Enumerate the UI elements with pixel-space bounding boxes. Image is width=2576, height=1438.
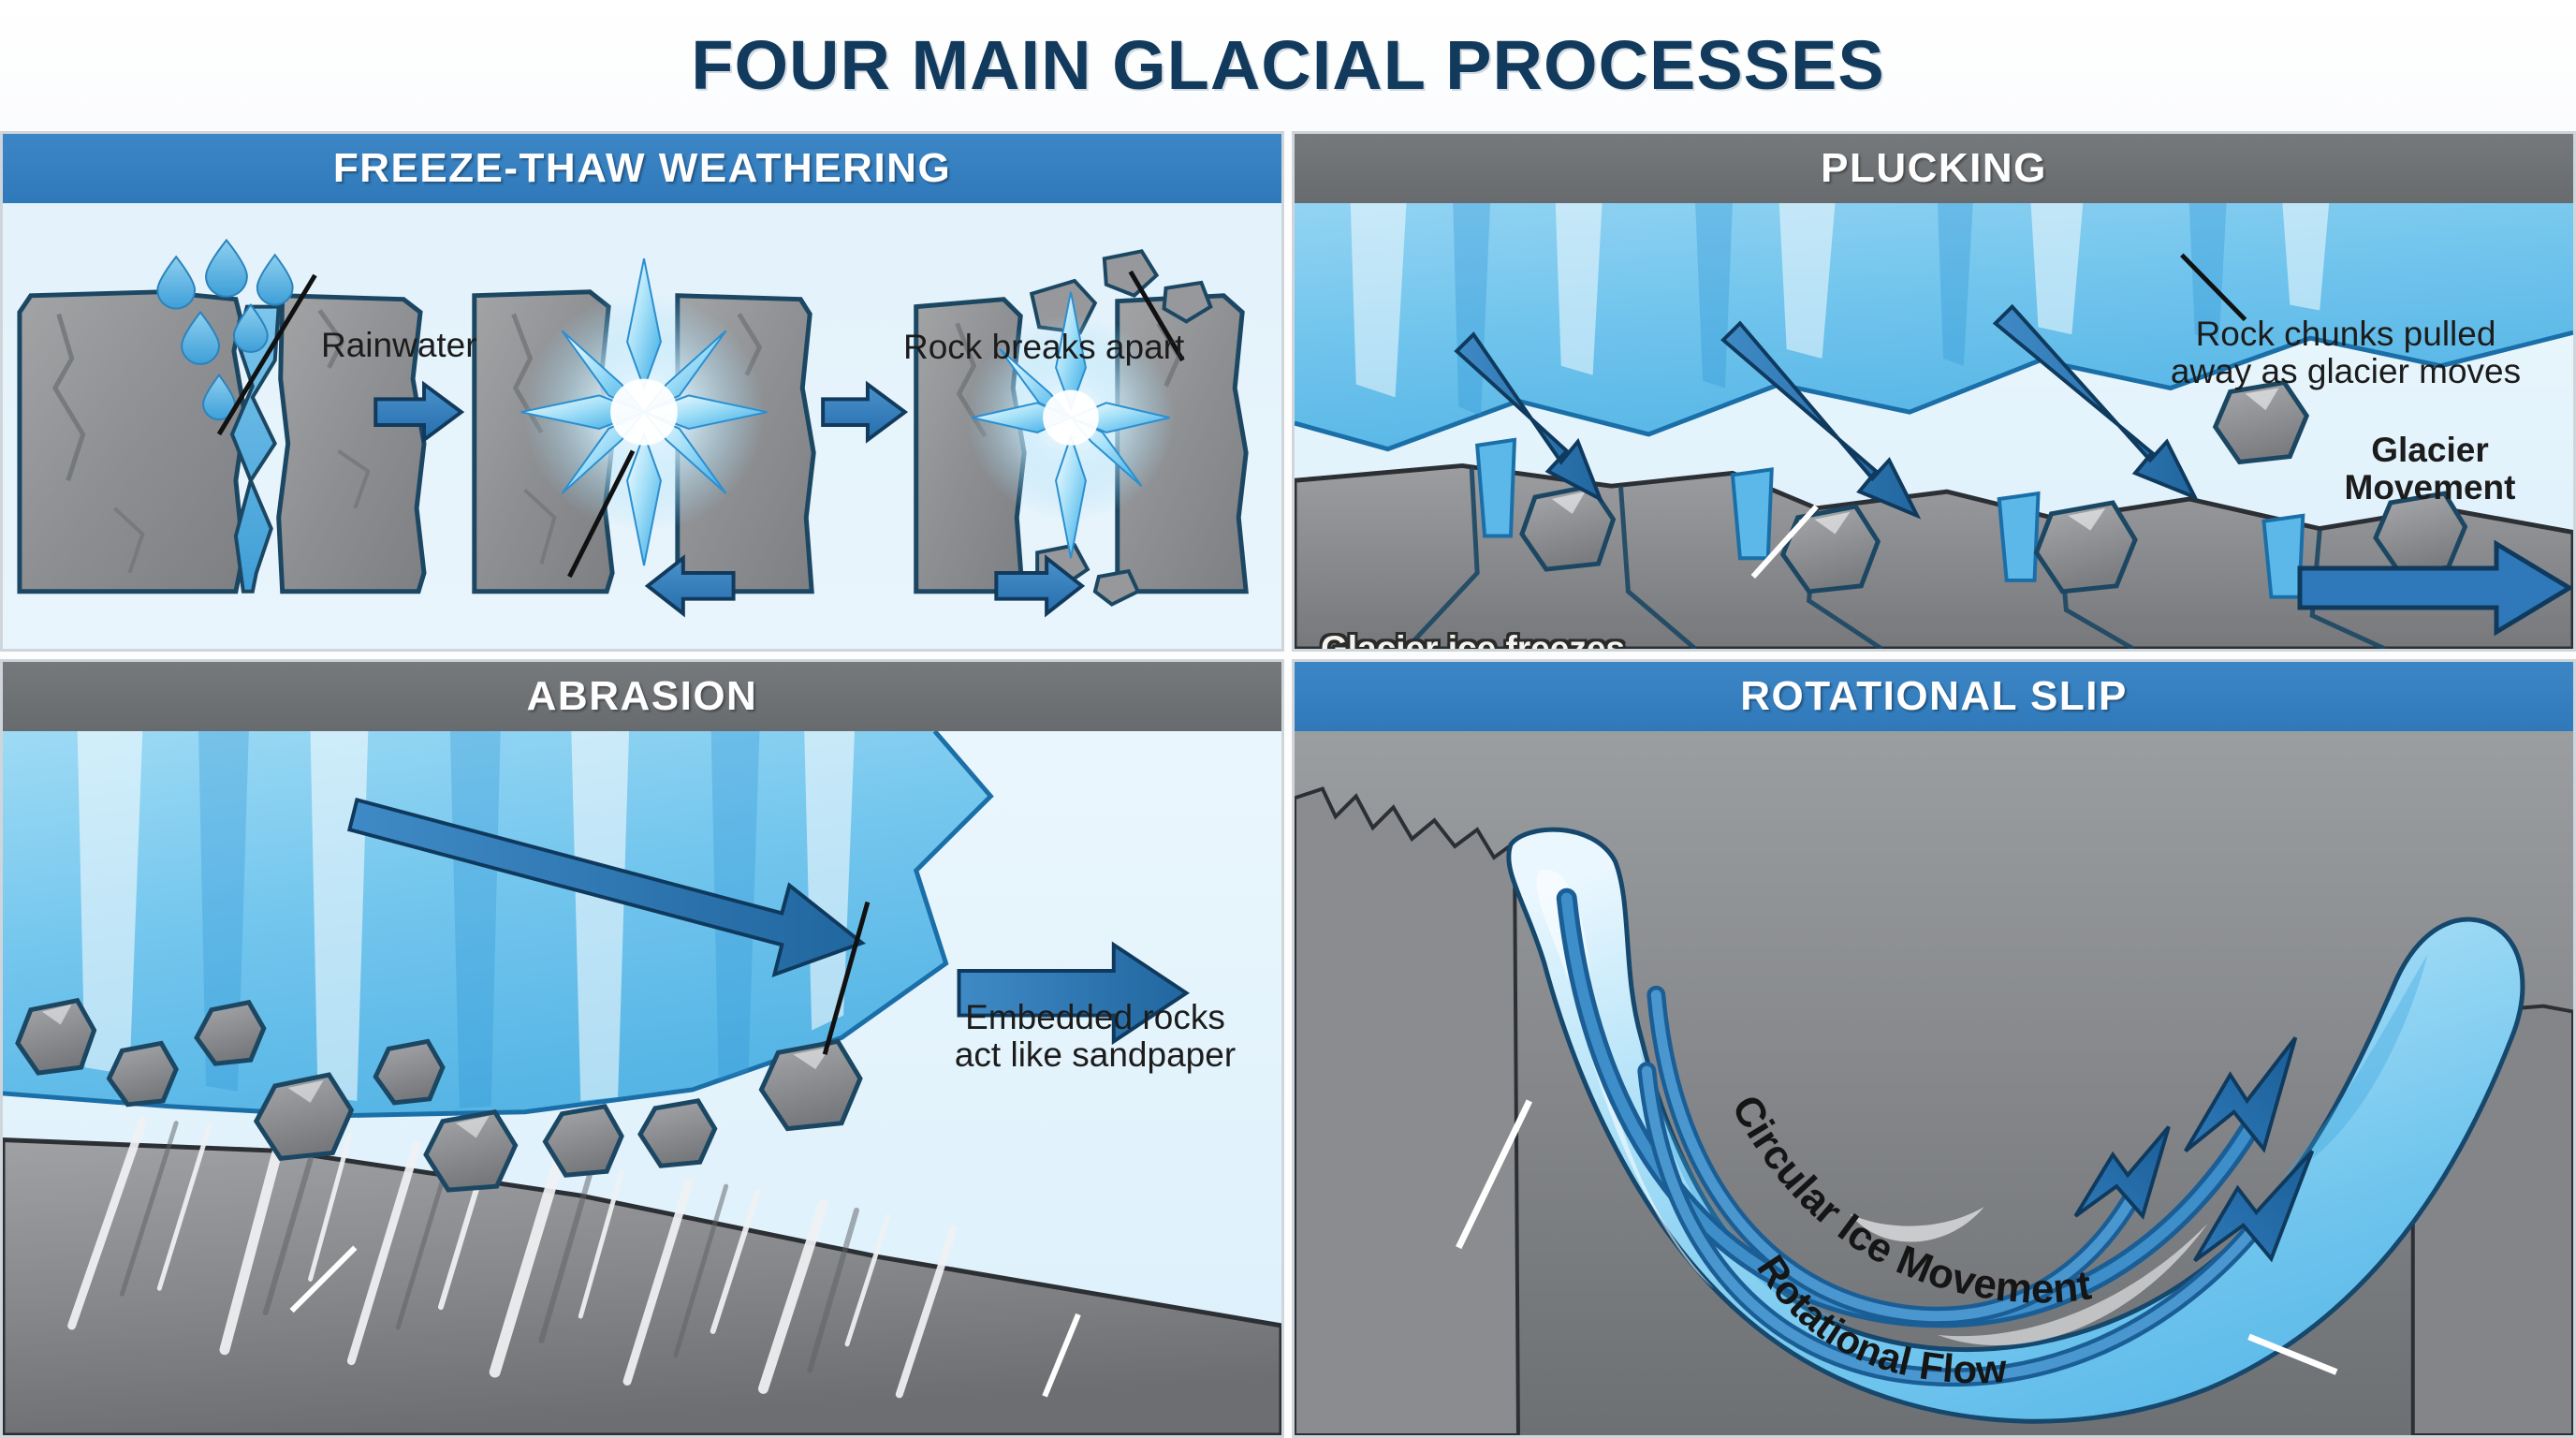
panel-title-abrasion: ABRASION: [527, 673, 758, 720]
arrow-right-icon-glacier-movement: [2294, 536, 2575, 639]
freeze-thaw-illustration: [3, 203, 1281, 649]
panel-rotational-slip: ROTATIONAL SLIP: [1292, 659, 2576, 1438]
panel-header-rotational-slip: ROTATIONAL SLIP: [1295, 662, 2573, 731]
label-rock-chunks-pulled: Rock chunks pulled away as glacier moves: [2126, 315, 2566, 390]
abrasion-illustration: [3, 731, 1281, 1435]
label-glacier-movement: Glacier Movement: [2302, 432, 2558, 506]
title-bar: FOUR MAIN GLACIAL PROCESSES: [0, 0, 2576, 129]
glacial-processes-infographic: FOUR MAIN GLACIAL PROCESSES FREEZE-THAW …: [0, 0, 2576, 1438]
rotational-slip-illustration: [1295, 731, 2573, 1435]
panel-header-abrasion: ABRASION: [3, 662, 1281, 731]
jagged-wall-icon: [1295, 789, 1518, 1435]
label-rainwater: Rainwater: [321, 327, 477, 364]
panel-freeze-thaw: FREEZE-THAW WEATHERING: [0, 131, 1284, 652]
panel-header-plucking: PLUCKING: [1295, 134, 2573, 203]
label-embedded-rocks-sandpaper-top: Embedded rocks act like sandpaper: [915, 999, 1276, 1074]
label-rock-breaks-apart: Rock breaks apart: [903, 329, 1184, 366]
panel-title-freeze-thaw: FREEZE-THAW WEATHERING: [333, 145, 951, 192]
panel-plucking: PLUCKING: [1292, 131, 2576, 652]
panel-title-rotational-slip: ROTATIONAL SLIP: [1740, 673, 2128, 720]
panel-abrasion: ABRASION: [0, 659, 1284, 1438]
label-glacier-ice-freezes-onto-bedrock: Glacier ice freezes onto bedrock: [1321, 630, 1625, 652]
page-title: FOUR MAIN GLACIAL PROCESSES: [691, 25, 1885, 105]
panel-header-freeze-thaw: FREEZE-THAW WEATHERING: [3, 134, 1281, 203]
panel-title-plucking: PLUCKING: [1821, 145, 2047, 192]
